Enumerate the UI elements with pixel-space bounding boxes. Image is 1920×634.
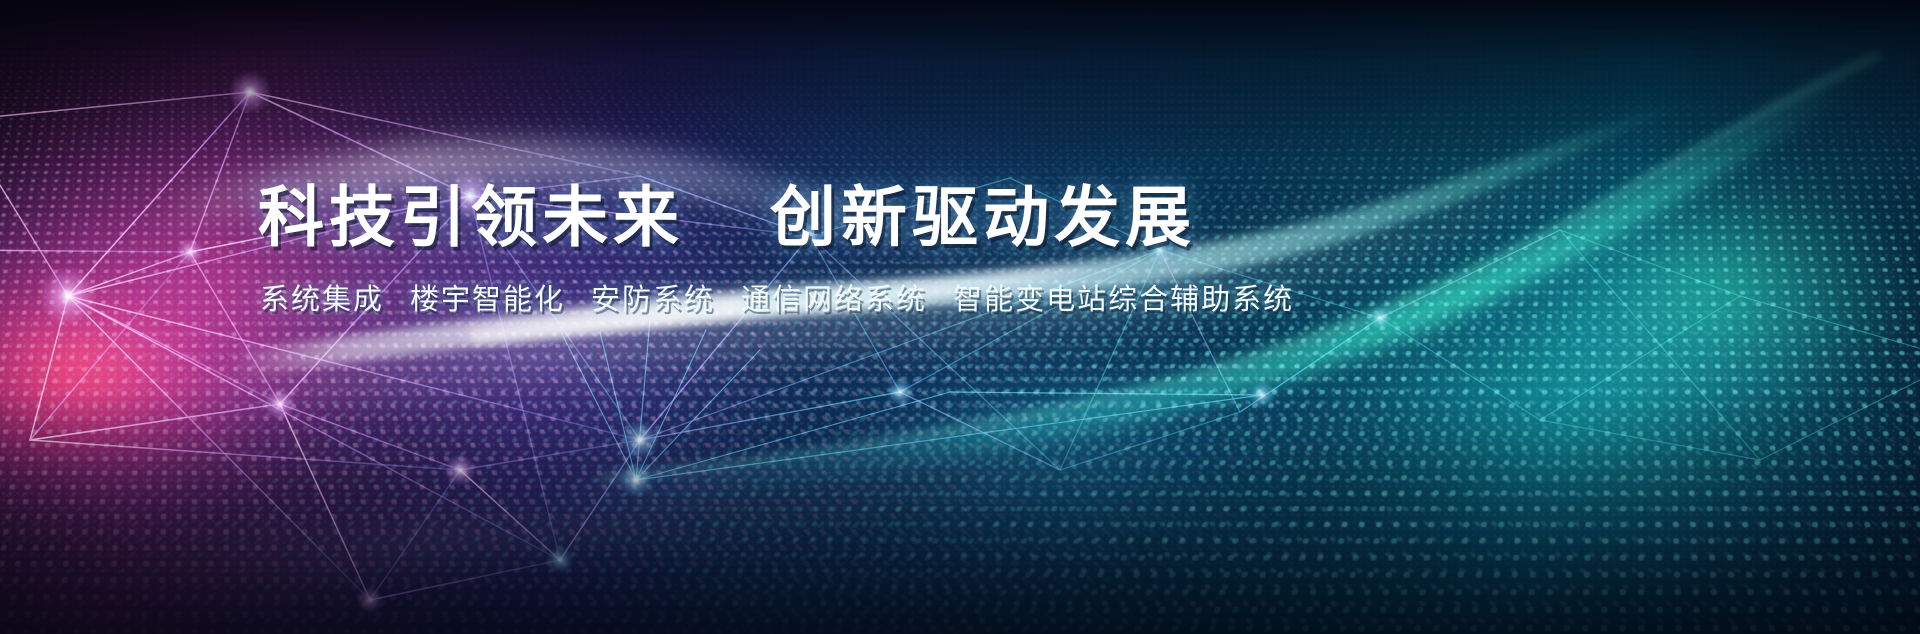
headline-phrase-1: 科技引领未来 <box>258 180 684 254</box>
subtitle-item-2: 安防系统 <box>591 284 715 316</box>
page-title: 科技引领未来创新驱动发展 <box>258 182 1920 253</box>
banner-subtitle: 系统集成楼宇智能化安防系统通信网络系统智能变电站综合辅助系统 <box>260 283 1920 318</box>
subtitle-item-1: 楼宇智能化 <box>410 284 565 316</box>
subtitle-item-4: 智能变电站综合辅助系统 <box>953 284 1294 316</box>
subtitle-item-3: 通信网络系统 <box>741 284 927 316</box>
subtitle-item-0: 系统集成 <box>260 284 384 316</box>
tech-banner: 科技引领未来创新驱动发展 系统集成楼宇智能化安防系统通信网络系统智能变电站综合辅… <box>0 0 1920 634</box>
headline-phrase-2: 创新驱动发展 <box>770 180 1196 254</box>
banner-text-block: 科技引领未来创新驱动发展 系统集成楼宇智能化安防系统通信网络系统智能变电站综合辅… <box>0 182 1920 318</box>
